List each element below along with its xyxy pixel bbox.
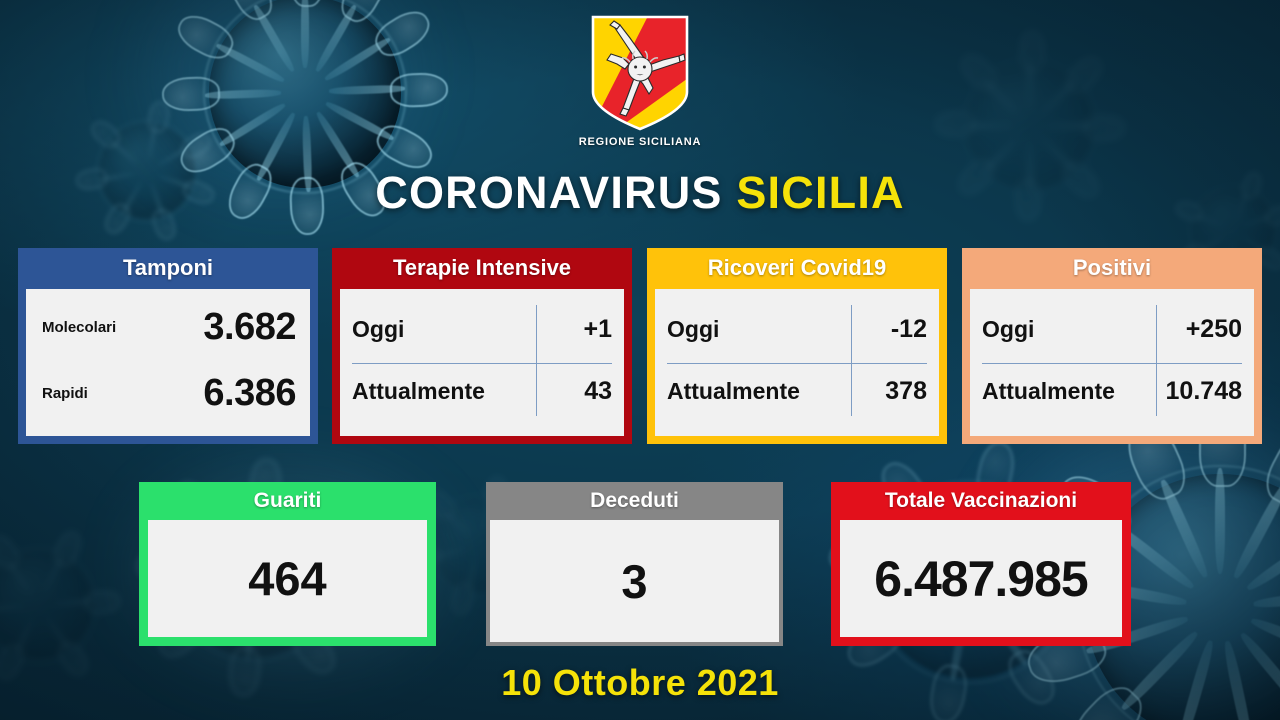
metric-row: Molecolari 3.682 <box>42 295 296 361</box>
card-body: Molecolari 3.682 Rapidi 6.386 <box>26 289 310 436</box>
metric-label-oggi: Oggi <box>352 316 583 343</box>
card-body: 464 <box>148 520 427 637</box>
card-value-deceduti: 3 <box>490 520 779 642</box>
infographic-canvas: REGIONE SICILIANA CORONAVIRUS SICILIA Ta… <box>0 0 1280 720</box>
metric-value-oggi: +250 <box>1186 315 1242 344</box>
metric-label-attualmente: Attualmente <box>982 378 1166 405</box>
stat-card-deceduti[interactable]: Deceduti 3 <box>486 482 783 646</box>
metric-row: Attualmente 43 <box>352 361 612 423</box>
metric-row: Attualmente 378 <box>667 361 927 423</box>
horizontal-divider <box>667 363 927 364</box>
metric-value-oggi: +1 <box>583 315 612 344</box>
card-body: 6.487.985 <box>840 520 1122 637</box>
stats-row-bottom: Guariti 464 Deceduti 3 Totale Vaccinazio… <box>0 482 1280 646</box>
metric-value-attualmente: 10.748 <box>1166 377 1242 406</box>
card-value-vaccinazioni: 6.487.985 <box>840 520 1122 637</box>
stat-card-positivi[interactable]: Positivi Oggi +250 Attualmente 10.748 <box>962 248 1262 444</box>
metric-label-attualmente: Attualmente <box>352 378 584 405</box>
card-value-guariti: 464 <box>148 520 427 637</box>
title-word-sicilia: SICILIA <box>736 167 904 218</box>
metric-value-attualmente: 378 <box>885 377 927 406</box>
metric-label-rapidi: Rapidi <box>42 385 203 402</box>
horizontal-divider <box>982 363 1242 364</box>
report-date: 10 Ottobre 2021 <box>0 662 1280 704</box>
card-title: Ricoveri Covid19 <box>647 248 947 289</box>
stat-card-terapie-intensive[interactable]: Terapie Intensive Oggi +1 Attualmente 43 <box>332 248 632 444</box>
card-body: 3 <box>490 520 779 642</box>
metric-row: Attualmente 10.748 <box>982 361 1242 423</box>
metric-value-attualmente: 43 <box>584 377 612 406</box>
page-title: CORONAVIRUS SICILIA <box>0 170 1280 215</box>
metric-row: Rapidi 6.386 <box>42 361 296 427</box>
vertical-divider <box>536 305 537 416</box>
card-title: Positivi <box>962 248 1262 289</box>
card-title: Totale Vaccinazioni <box>831 482 1131 520</box>
metric-value-molecolari: 3.682 <box>203 306 296 349</box>
regione-siciliana-emblem: REGIONE SICILIANA <box>0 14 1280 148</box>
card-body: Oggi +1 Attualmente 43 <box>340 289 624 436</box>
metric-label-molecolari: Molecolari <box>42 319 203 336</box>
metric-label-attualmente: Attualmente <box>667 378 885 405</box>
metric-label-oggi: Oggi <box>667 316 891 343</box>
stat-card-tamponi[interactable]: Tamponi Molecolari 3.682 Rapidi 6.386 <box>18 248 318 444</box>
metric-row: Oggi +1 <box>352 299 612 361</box>
metric-value-rapidi: 6.386 <box>203 372 296 415</box>
metric-value-oggi: -12 <box>891 315 927 344</box>
card-title: Guariti <box>139 482 436 520</box>
card-body: Oggi -12 Attualmente 378 <box>655 289 939 436</box>
metric-row: Oggi +250 <box>982 299 1242 361</box>
metric-row: Oggi -12 <box>667 299 927 361</box>
card-body: Oggi +250 Attualmente 10.748 <box>970 289 1254 436</box>
emblem-label: REGIONE SICILIANA <box>579 136 701 148</box>
sicily-trinacria-shield-icon <box>589 14 691 132</box>
stat-card-ricoveri-covid19[interactable]: Ricoveri Covid19 Oggi -12 Attualmente 37… <box>647 248 947 444</box>
card-title: Terapie Intensive <box>332 248 632 289</box>
title-word-coronavirus: CORONAVIRUS <box>375 167 722 218</box>
card-title: Tamponi <box>18 248 318 289</box>
horizontal-divider <box>352 363 612 364</box>
stat-card-guariti[interactable]: Guariti 464 <box>139 482 436 646</box>
metrics-grid: Molecolari 3.682 Rapidi 6.386 <box>26 289 310 436</box>
card-title: Deceduti <box>486 482 783 520</box>
stat-card-totale-vaccinazioni[interactable]: Totale Vaccinazioni 6.487.985 <box>831 482 1131 646</box>
stats-row-top: Tamponi Molecolari 3.682 Rapidi 6.386 Te… <box>0 248 1280 444</box>
vertical-divider <box>1156 305 1157 416</box>
vertical-divider <box>851 305 852 416</box>
